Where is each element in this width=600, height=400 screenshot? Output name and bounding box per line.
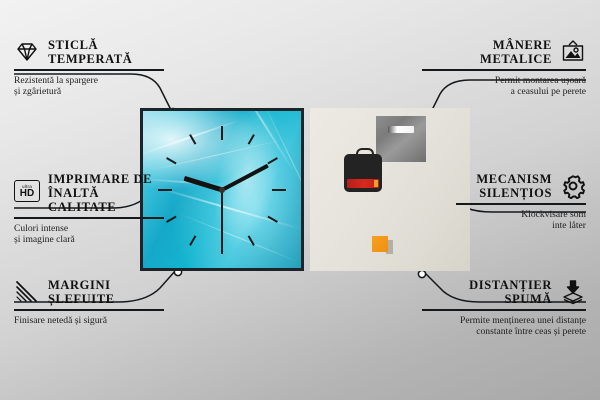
hand-center-cap (219, 187, 225, 193)
feature-metal-handles: MÂNERE METALICE Permit montarea ușoară a… (422, 38, 586, 97)
feature-high-quality-print: ultra HD IMPRIMARE DE ÎNALTĂ CALITATE Cu… (14, 172, 164, 245)
foam-spacer-icon (560, 279, 586, 305)
feature-desc: Permite menținerea unei distanțe constan… (422, 315, 586, 338)
feature-header: ultra HD IMPRIMARE DE ÎNALTĂ CALITATE (14, 172, 164, 214)
feature-desc: Finisare netedă și sigură (14, 315, 164, 326)
divider (422, 69, 586, 71)
feature-title: DISTANȚIER SPUMĂ (469, 278, 552, 306)
divider (14, 69, 164, 71)
feature-title: MECANISM SILENȚIOS (476, 172, 552, 200)
ultra-hd-badge: ultra HD (14, 180, 40, 202)
divider (14, 217, 164, 219)
hanger-slot (388, 126, 414, 133)
feature-header: MÂNERE METALICE (422, 38, 586, 66)
infographic-canvas: STICLĂ TEMPERATĂ Rezistentă la spargere … (0, 0, 600, 400)
feature-title: STICLĂ TEMPERATĂ (48, 38, 132, 66)
clock-tick (222, 189, 286, 191)
foam-spacer-piece (372, 236, 388, 252)
feature-header: MARGINI ȘLEFUITE (14, 278, 164, 306)
second-hand (221, 190, 223, 248)
clock-back-panel (310, 108, 470, 271)
feature-title: MARGINI ȘLEFUITE (48, 278, 115, 306)
battery-terminal (374, 180, 378, 187)
picture-frame-icon (560, 39, 586, 65)
divider (422, 309, 586, 311)
bevel-edge-icon (14, 279, 40, 305)
clock-tick (221, 126, 223, 190)
feature-title: IMPRIMARE DE ÎNALTĂ CALITATE (48, 172, 164, 214)
battery (347, 179, 379, 188)
divider (456, 203, 586, 205)
feature-desc: Klockvisare som inte låter (456, 209, 586, 232)
mechanism-hook (356, 148, 374, 159)
feature-header: MECANISM SILENȚIOS (456, 172, 586, 200)
feature-header: STICLĂ TEMPERATĂ (14, 38, 164, 66)
feature-desc: Permit montarea ușoară a ceasului pe per… (422, 75, 586, 98)
metal-hanger-plate (376, 116, 426, 162)
feature-title: MÂNERE METALICE (480, 38, 552, 66)
clock-mechanism (344, 154, 382, 192)
divider (14, 309, 164, 311)
endpoint-dot-foam-spacer (418, 270, 425, 277)
feature-silent-mechanism: MECANISM SILENȚIOS Klockvisare som inte … (456, 172, 586, 231)
feature-header: DISTANȚIER SPUMĂ (422, 278, 586, 306)
ultra-hd-badge-hd: HD (20, 189, 34, 199)
ultra-hd-icon: ultra HD (14, 180, 40, 206)
clock-dial (140, 108, 304, 271)
diamond-icon (14, 39, 40, 65)
feature-tempered-glass: STICLĂ TEMPERATĂ Rezistentă la spargere … (14, 38, 164, 97)
feature-polished-edges: MARGINI ȘLEFUITE Finisare netedă și sigu… (14, 278, 164, 326)
feature-desc: Culori intense și imagine clară (14, 223, 164, 246)
feature-foam-spacer: DISTANȚIER SPUMĂ Permite menținerea unei… (422, 278, 586, 337)
gear-icon (560, 173, 586, 199)
feature-desc: Rezistentă la spargere și zgârietură (14, 75, 164, 98)
